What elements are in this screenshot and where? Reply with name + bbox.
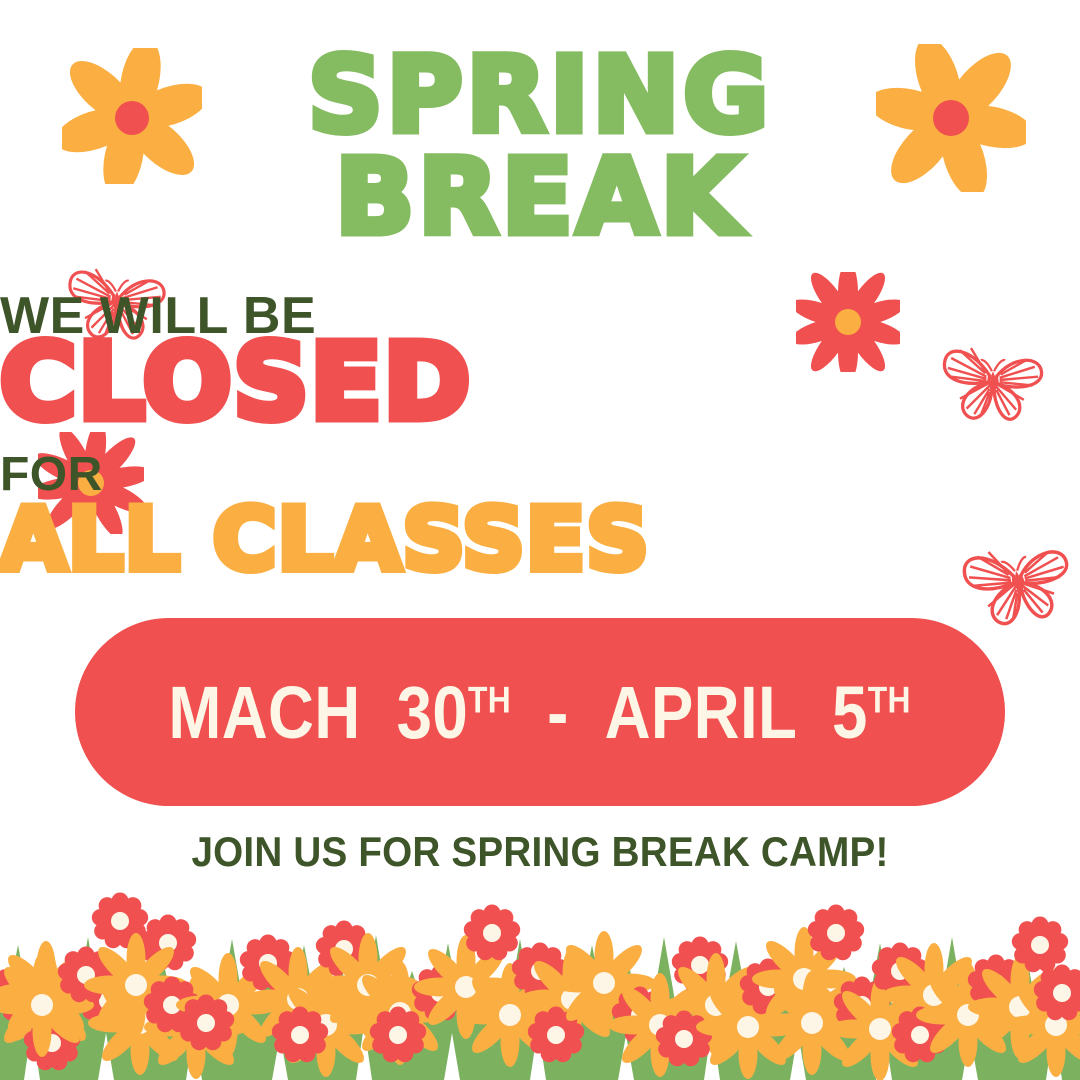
spring-break-closure-poster: SPRING BREAK WE WILL BE CLOSED FOR ALL C… — [0, 0, 1080, 1080]
flower-bed-border — [0, 875, 1080, 1080]
camp-invitation-label: JOIN US FOR SPRING BREAK CAMP! — [43, 828, 1037, 876]
date-range-text: MACH 30TH - APRIL 5TH — [169, 670, 911, 755]
start-day: 30 — [397, 671, 468, 754]
end-day: 5 — [832, 671, 868, 754]
start-month: MACH — [169, 671, 361, 754]
title-line-break: BREAK — [0, 150, 1080, 246]
end-month: APRIL — [605, 671, 796, 754]
date-separator: - — [547, 671, 569, 754]
title-line-spring: SPRING — [0, 48, 1080, 144]
start-ordinal: TH — [468, 679, 511, 720]
all-classes-label: ALL CLASSES — [0, 497, 1080, 583]
end-ordinal: TH — [868, 679, 911, 720]
closed-label: CLOSED — [0, 330, 1080, 434]
date-range-banner: MACH 30TH - APRIL 5TH — [75, 618, 1005, 806]
